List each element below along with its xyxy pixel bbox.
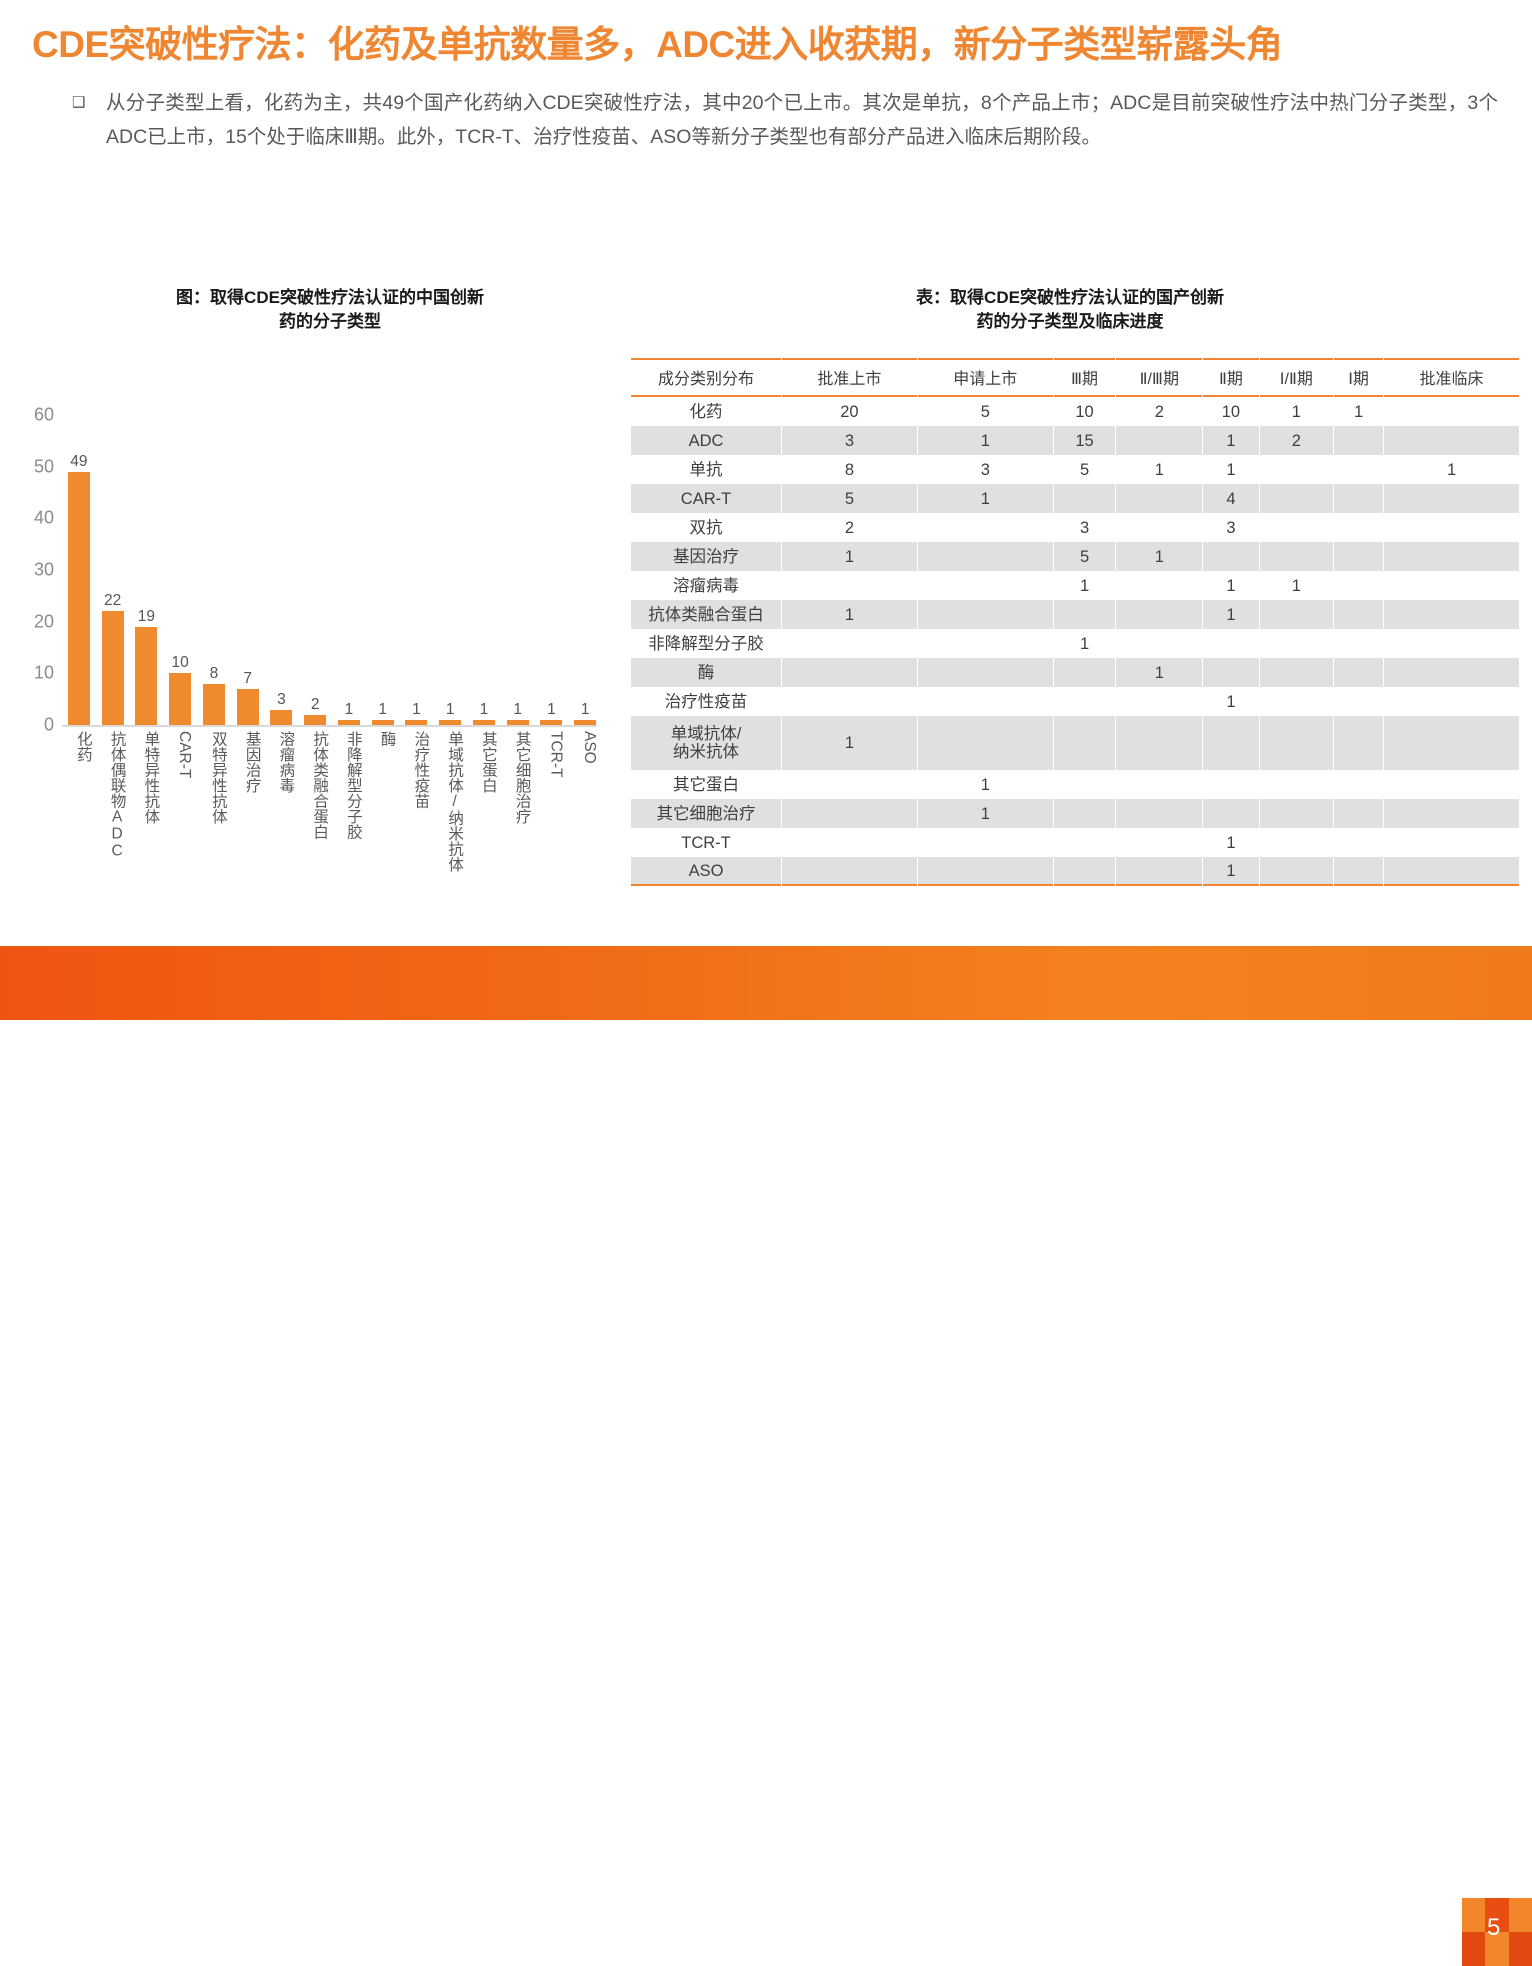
page-title: CDE突破性疗法：化药及单抗数量多，ADC进入收获期，新分子类型崭露头角 [32,14,1502,68]
table-row-label: 酶 [631,658,781,687]
clinical-progress-table: 成分类别分布批准上市申请上市Ⅲ期Ⅱ/Ⅲ期Ⅱ期Ⅰ/Ⅱ期Ⅰ期批准临床 化药20510… [630,358,1520,886]
chart-x-tick: CAR-T [167,731,193,778]
table-cell [1334,716,1383,770]
page-number: 5 [1487,1914,1500,1942]
table-cell: 20 [782,397,917,426]
table-cell [1334,828,1383,857]
chart-bar: 2 [304,415,326,725]
table-cell [1334,571,1383,600]
brand-text: 天风证券 TF SECURITIES [1340,1914,1424,1947]
table-row: ADC311512 [631,426,1519,455]
table-cell: 1 [1054,629,1116,658]
table-row-label: 基因治疗 [631,542,781,571]
chart-bar-rect [270,710,292,726]
table-cell [1334,687,1383,716]
table-cell: 15 [1054,426,1116,455]
chart-bar: 22 [102,415,124,725]
table-cell: 1 [1203,687,1258,716]
table-cell [1384,770,1519,799]
table-cell [1384,629,1519,658]
table-caption-line2: 药的分子类型及临床进度 [700,310,1440,334]
table-cell [918,600,1053,629]
chart-y-tick: 60 [16,405,54,426]
table-cell [1260,770,1333,799]
table-body: 化药2051021011ADC311512单抗835111CAR-T514双抗2… [631,397,1519,886]
table-cell: 5 [1054,455,1116,484]
table-cell [1203,799,1258,828]
table-cell [918,857,1053,886]
table-cell: 10 [1054,397,1116,426]
swatch-1 [1462,1898,1485,1932]
table-cell [1334,658,1383,687]
table-cell [1116,770,1202,799]
table-cell [1054,687,1116,716]
swatch-4 [1462,1932,1485,1966]
table-cell [1334,426,1383,455]
table-cell [1054,799,1116,828]
swatch-6 [1509,1932,1532,1966]
table-cell [782,658,917,687]
table-cell [1384,687,1519,716]
chart-bar: 1 [473,415,495,725]
chart-bar-value: 3 [277,692,286,707]
table-cell: 5 [1054,542,1116,571]
chart-x-tick: 双特异性抗体 [201,731,227,824]
figure-caption-line2: 药的分子类型 [60,310,600,334]
table-cell [1334,799,1383,828]
table-row-label: 非降解型分子胶 [631,629,781,658]
table-row: TCR-T1 [631,828,1519,857]
chart-x-tick: 抗体类融合蛋白 [302,731,328,840]
table-cell [1260,513,1333,542]
table-row: 基因治疗151 [631,542,1519,571]
table-cell: 1 [1384,455,1519,484]
chart-bar-rect [68,472,90,725]
table-cell [782,799,917,828]
chart-bar-value: 1 [378,702,387,717]
table-cell [1384,571,1519,600]
table-row-label: 双抗 [631,513,781,542]
table-cell [918,658,1053,687]
chart-bar-value: 1 [581,702,590,717]
bullet-body-text: 从分子类型上看，化药为主，共49个国产化药纳入CDE突破性疗法，其中20个已上市… [106,86,1498,154]
footer-bar: 资料来源：Insight数据库，天风证券研究所 天风证券 TF SECURITI… [0,946,1532,1020]
table-cell [918,513,1053,542]
table-cell [1260,687,1333,716]
table-cell: 1 [1260,571,1333,600]
table-cell [1384,716,1519,770]
table-cell [1334,542,1383,571]
table-cell [1384,542,1519,571]
table-cell [1260,799,1333,828]
table-cell [1054,770,1116,799]
table-cell [1384,600,1519,629]
table-cell [1260,484,1333,513]
table-row: 抗体类融合蛋白11 [631,600,1519,629]
table-cell [1260,600,1333,629]
table-cell: 2 [1260,426,1333,455]
table-cell [1054,716,1116,770]
chart-bar-value: 49 [70,454,87,469]
table-cell [918,716,1053,770]
table-cell [1116,426,1202,455]
chart-bar-value: 10 [172,655,189,670]
table-cell [1116,857,1202,886]
table-row-label: 其它蛋白 [631,770,781,799]
chart-bar: 1 [439,415,461,725]
chart-x-tick: TCR-T [538,731,564,778]
table-cell [1384,426,1519,455]
table-row-label: 化药 [631,397,781,426]
brand-subtitle: TF SECURITIES [1340,1936,1424,1947]
chart-bar: 8 [203,415,225,725]
table-row: 化药2051021011 [631,397,1519,426]
table-row-label: 溶瘤病毒 [631,571,781,600]
chart-plot-area: 49221910873211111111 [62,415,602,725]
table-row: 其它蛋白1 [631,770,1519,799]
chart-x-tick: 基因治疗 [235,731,261,793]
table-cell: 1 [782,716,917,770]
chart-bar-value: 1 [513,702,522,717]
chart-bar: 1 [338,415,360,725]
chart-bar-rect [203,684,225,725]
table-cell: 1 [1203,571,1258,600]
table-cell [1334,857,1383,886]
chart-bar: 7 [237,415,259,725]
table-row-label: ADC [631,426,781,455]
table-column-header: Ⅰ/Ⅱ期 [1260,358,1333,397]
table-row-label: 其它细胞治疗 [631,799,781,828]
chart-bar-rect [304,715,326,725]
table-cell: 1 [1334,397,1383,426]
table-cell [1116,571,1202,600]
chart-x-tick: 化药 [66,731,92,762]
chart-bar-rect [169,673,191,725]
table-cell: 1 [918,484,1053,513]
table-cell [1334,600,1383,629]
table-cell: 1 [918,770,1053,799]
chart-x-tick: ASO [572,731,598,764]
table-header-row: 成分类别分布批准上市申请上市Ⅲ期Ⅱ/Ⅲ期Ⅱ期Ⅰ/Ⅱ期Ⅰ期批准临床 [631,358,1519,397]
chart-bar-value: 1 [412,702,421,717]
table-row: 其它细胞治疗1 [631,799,1519,828]
table-cell [1203,658,1258,687]
chart-bar-value: 8 [210,666,219,681]
table-row: ASO1 [631,857,1519,886]
table-cell [1203,716,1258,770]
table-row: 酶1 [631,658,1519,687]
table-row-label: 单域抗体/纳米抗体 [631,716,781,770]
chart-bar: 1 [574,415,596,725]
table-column-header: Ⅱ/Ⅲ期 [1116,358,1202,397]
chart-x-tick: 抗体偶联物ADC [100,731,126,860]
table-cell [1334,484,1383,513]
table-cell [1116,716,1202,770]
table-cell: 1 [1203,426,1258,455]
chart-y-tick: 50 [16,456,54,477]
table-cell [1334,455,1383,484]
chart-x-tick: 单特异性抗体 [133,731,159,824]
table-cell: 1 [1203,600,1258,629]
chart-bar: 1 [372,415,394,725]
chart-y-tick: 40 [16,508,54,529]
table-caption-line1: 表：取得CDE突破性疗法认证的国产创新 [700,286,1440,310]
chart-bar-value: 1 [345,702,354,717]
table-cell [1116,600,1202,629]
chart-bar-value: 1 [547,702,556,717]
chart-x-tick: 其它蛋白 [471,731,497,793]
table-cell [1054,857,1116,886]
table-cell [1384,484,1519,513]
table-cell [782,828,917,857]
table-cell [918,571,1053,600]
chart-bar: 1 [540,415,562,725]
chart-bar: 1 [507,415,529,725]
table-cell [1054,658,1116,687]
chart-bar-value: 7 [243,671,252,686]
table-cell [782,687,917,716]
table-cell [782,629,917,658]
table-cell [1260,542,1333,571]
brand-name: 天风证券 [1340,1914,1424,1936]
table-cell: 1 [782,542,917,571]
table-cell [1116,828,1202,857]
table-row: 非降解型分子胶1 [631,629,1519,658]
swatch-3 [1509,1898,1532,1932]
table-column-header: 批准临床 [1384,358,1519,397]
table-cell [1054,484,1116,513]
table-row-label: 单抗 [631,455,781,484]
table-cell: 1 [1116,658,1202,687]
chart-x-tick: 单域抗体/纳米抗体 [437,731,463,872]
table-cell [1116,799,1202,828]
table-cell: 5 [918,397,1053,426]
table-row: 单域抗体/纳米抗体1 [631,716,1519,770]
table-cell [1054,828,1116,857]
table-cell: 8 [782,455,917,484]
table-cell: 1 [1116,455,1202,484]
table-cell: 10 [1203,397,1258,426]
chart-bar: 3 [270,415,292,725]
table-cell: 1 [782,600,917,629]
table-cell [1116,513,1202,542]
chart-bar: 10 [169,415,191,725]
table-cell [1116,629,1202,658]
table-cell [1384,397,1519,426]
table-cell [1260,455,1333,484]
table-cell [1260,629,1333,658]
table-cell [1384,513,1519,542]
table-cell [1260,658,1333,687]
chart-x-tick: 非降解型分子胶 [336,731,362,840]
table-cell: 3 [1203,513,1258,542]
chart-bar: 1 [405,415,427,725]
table-cell [1260,828,1333,857]
table-cell [1334,513,1383,542]
figure-caption: 图：取得CDE突破性疗法认证的中国创新 药的分子类型 [60,286,600,334]
table-cell [782,857,917,886]
table-row: CAR-T514 [631,484,1519,513]
table-cell [1054,600,1116,629]
chart-bar-value: 22 [104,593,121,608]
table-cell [1384,828,1519,857]
table-row-label: 治疗性疫苗 [631,687,781,716]
chart-y-tick: 20 [16,611,54,632]
table-cell [918,629,1053,658]
chart-bar: 19 [135,415,157,725]
table-cell: 1 [1116,542,1202,571]
table-cell: 1 [1203,857,1258,886]
chart-x-tick: 治疗性疫苗 [403,731,429,809]
chart-x-tick: 溶瘤病毒 [268,731,294,793]
table-cell [1384,799,1519,828]
table-cell [782,571,917,600]
table-row: 双抗233 [631,513,1519,542]
table-cell: 1 [1054,571,1116,600]
chart-bar-value: 19 [138,609,155,624]
table-cell [1203,542,1258,571]
chart-y-tick: 0 [16,715,54,736]
table-cell [1384,658,1519,687]
table-cell [1116,687,1202,716]
chart-bar-value: 1 [480,702,489,717]
table-head: 成分类别分布批准上市申请上市Ⅲ期Ⅱ/Ⅲ期Ⅱ期Ⅰ/Ⅱ期Ⅰ期批准临床 [631,358,1519,397]
table-cell [1384,857,1519,886]
chart-bar-rect [237,689,259,725]
table-row-label: ASO [631,857,781,886]
bullet-paragraph: ❑ 从分子类型上看，化药为主，共49个国产化药纳入CDE突破性疗法，其中20个已… [72,86,1502,154]
table-cell: 1 [1203,455,1258,484]
chart-bar-rect [135,627,157,725]
table-cell [1116,484,1202,513]
table-cell: 4 [1203,484,1258,513]
source-note: 资料来源：Insight数据库，天风证券研究所 [24,1922,313,1943]
chart-x-tick: 其它细胞治疗 [505,731,531,824]
chart-y-axis: 0102030405060 [10,415,54,725]
table-row: 单抗835111 [631,455,1519,484]
table-cell [1203,629,1258,658]
table-row: 治疗性疫苗1 [631,687,1519,716]
table-column-header: Ⅲ期 [1054,358,1116,397]
brand-logo: 天风证券 TF SECURITIES [1288,1904,1448,1956]
chart-x-axis-line [62,725,597,727]
table-cell: 2 [782,513,917,542]
chart-x-tick: 酶 [370,731,396,747]
chart-y-tick: 30 [16,560,54,581]
table-cell [918,687,1053,716]
table-cell: 1 [918,799,1053,828]
table-cell: 1 [918,426,1053,455]
figure-caption-line1: 图：取得CDE突破性疗法认证的中国创新 [60,286,600,310]
table-cell [918,828,1053,857]
chart-y-tick: 10 [16,663,54,684]
table-cell: 1 [1260,397,1333,426]
table-cell: 3 [918,455,1053,484]
chart-bar-value: 1 [446,702,455,717]
table-column-header: Ⅱ期 [1203,358,1258,397]
table-cell: 3 [782,426,917,455]
chart-bar: 49 [68,415,90,725]
table-column-header: 批准上市 [782,358,917,397]
table-row-label: 抗体类融合蛋白 [631,600,781,629]
table-column-header: 申请上市 [918,358,1053,397]
table-cell [1334,629,1383,658]
table-cell [1334,770,1383,799]
table-column-header: 成分类别分布 [631,358,781,397]
table-row-label: TCR-T [631,828,781,857]
chart-bar-value: 2 [311,697,320,712]
table-cell [1260,857,1333,886]
table-cell: 1 [1203,828,1258,857]
table-caption: 表：取得CDE突破性疗法认证的国产创新 药的分子类型及临床进度 [700,286,1440,334]
table-column-header: Ⅰ期 [1334,358,1383,397]
bullet-square-icon: ❑ [72,86,106,120]
table-row: 溶瘤病毒111 [631,571,1519,600]
table-row-label: CAR-T [631,484,781,513]
table-cell [782,770,917,799]
table-cell [1260,716,1333,770]
tianfeng-flower-icon [1288,1908,1332,1952]
chart-bar-rect [102,611,124,725]
bar-chart: 0102030405060 49221910873211111111 化药抗体偶… [10,415,610,915]
table-cell: 3 [1054,513,1116,542]
table-cell [918,542,1053,571]
table-cell: 5 [782,484,917,513]
table-cell [1203,770,1258,799]
table-cell: 2 [1116,397,1202,426]
